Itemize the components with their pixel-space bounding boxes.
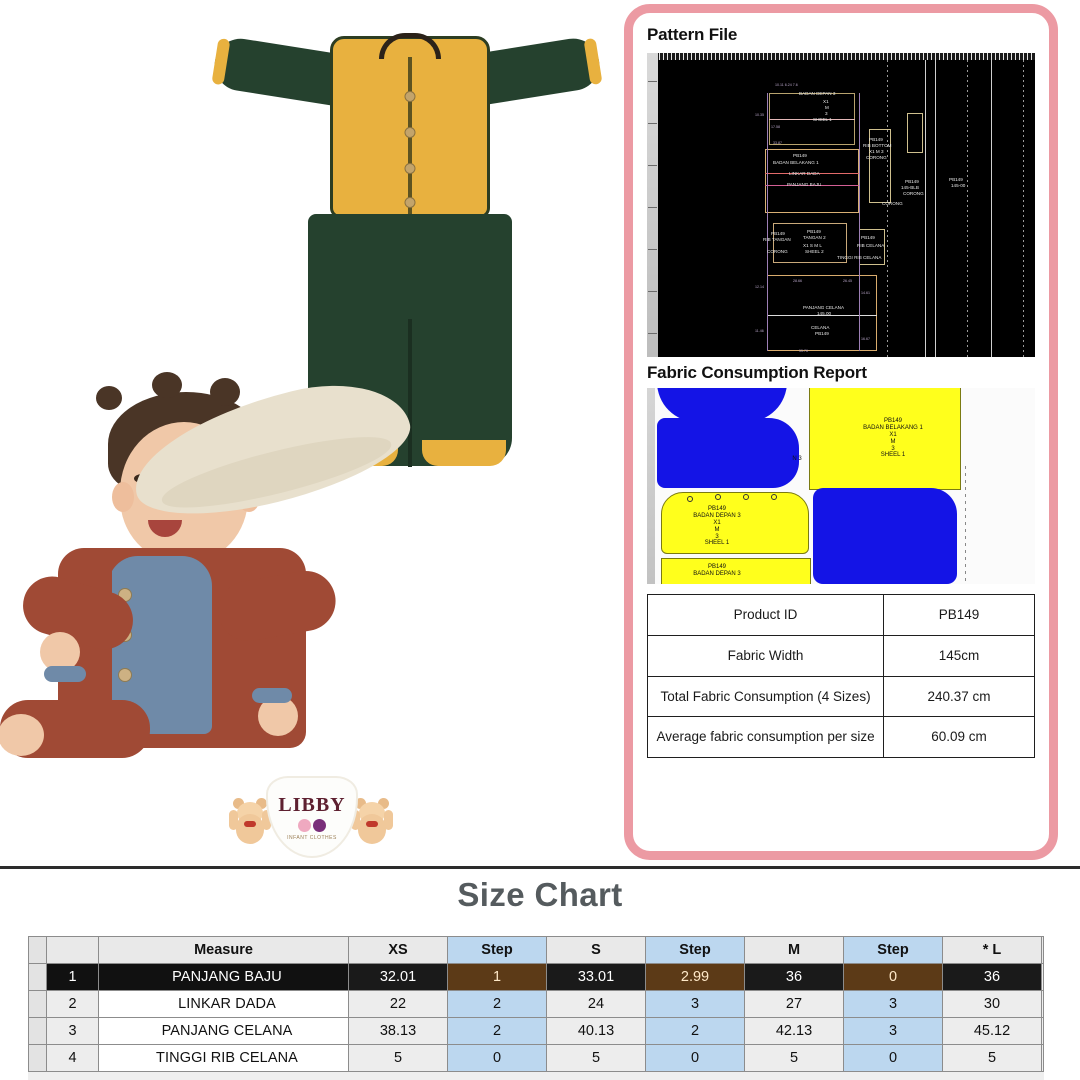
header-tail: [1042, 937, 1044, 964]
header-xs: XS: [349, 937, 448, 964]
flower-pink-icon: [298, 819, 311, 832]
row-tail: [1042, 1018, 1044, 1045]
step-2: 0: [646, 1045, 745, 1072]
bear-arm: [384, 810, 393, 830]
fabric-consumption-report-title: Fabric Consumption Report: [647, 363, 1035, 383]
row-index: 3: [47, 1018, 99, 1045]
size-chart-heading: Size Chart: [0, 876, 1080, 914]
hair-curl: [96, 386, 122, 410]
header-m: M: [745, 937, 844, 964]
header-s: S: [547, 937, 646, 964]
table-row: Fabric Width 145cm: [648, 635, 1035, 676]
step-1: 2: [448, 1018, 547, 1045]
value-s: 40.13: [547, 1018, 646, 1045]
spec-value: 145cm: [884, 635, 1035, 676]
table-row[interactable]: 2 LINKAR DADA 22 2 24 3 27 3 30: [29, 991, 1044, 1018]
fabric-marker-image: PB149BADAN BELAKANG 1X1M3SHEEL 1 N 3 PB1…: [647, 388, 1035, 584]
step-1: 2: [448, 991, 547, 1018]
header-step-3: Step: [844, 937, 943, 964]
table-row: Product ID PB149: [648, 595, 1035, 636]
measure-name: LINKAR DADA: [99, 991, 349, 1018]
bear-arm: [229, 810, 238, 830]
marker-piece-label: N 3: [767, 456, 827, 463]
pattern-file-image: BADAN DEPAN 3 X1 M 3 SHEEL 1 PB149 BADAN…: [647, 53, 1035, 357]
spec-key: Product ID: [648, 595, 884, 636]
flower-purple-icon: [313, 819, 326, 832]
table-row[interactable]: 1 PANJANG BAJU 32.01 1 33.01 2.99 36 0 3…: [29, 964, 1044, 991]
spec-value: 240.37 cm: [884, 676, 1035, 717]
outfit-torso: [330, 36, 490, 218]
marker-piece-blue: [813, 488, 957, 584]
baby-foot: [0, 714, 44, 756]
section-divider: [0, 866, 1080, 869]
step-3: 3: [844, 991, 943, 1018]
value-l: 5: [943, 1045, 1042, 1072]
step-1: 1: [448, 964, 547, 991]
outfit-neckline: [379, 33, 441, 59]
row-index: 1: [47, 964, 99, 991]
cad-left-ruler: [647, 53, 658, 357]
marker-piece-label: PB149BADAN DEPAN 3: [657, 564, 777, 578]
tech-pack-card: Pattern File: [624, 4, 1058, 860]
header-blank: [29, 937, 47, 964]
baby-sleeve-cuff: [252, 688, 292, 703]
marker-piece-label: PB149BADAN DEPAN 3X1M3SHEEL 1: [657, 506, 777, 547]
header-l: * L: [943, 937, 1042, 964]
table-row[interactable]: 4 TINGGI RIB CELANA 5 0 5 0 5 0 5: [29, 1045, 1044, 1072]
outfit-button: [405, 197, 416, 208]
row-tail: [1042, 991, 1044, 1018]
pattern-file-title: Pattern File: [647, 25, 1035, 45]
measure-name: TINGGI RIB CELANA: [99, 1045, 349, 1072]
step-2: 3: [646, 991, 745, 1018]
right-cuff: [583, 38, 602, 85]
outfit-button: [405, 127, 416, 138]
spec-value: 60.09 cm: [884, 717, 1035, 758]
cad-top-ruler: [647, 53, 1035, 60]
row-gutter: [29, 991, 47, 1018]
outfit-button: [405, 91, 416, 102]
row-tail: [1042, 1045, 1044, 1072]
table-row[interactable]: 3 PANJANG CELANA 38.13 2 40.13 2 42.13 3…: [29, 1018, 1044, 1045]
step-1: 0: [448, 1045, 547, 1072]
step-2: 2: [646, 1018, 745, 1045]
measure-name: PANJANG BAJU: [99, 964, 349, 991]
value-m: 27: [745, 991, 844, 1018]
table-row: Total Fabric Consumption (4 Sizes) 240.3…: [648, 676, 1035, 717]
table-row: Average fabric consumption per size 60.0…: [648, 717, 1035, 758]
hair-curl: [152, 372, 182, 398]
marker-piece-label: PB149BADAN BELAKANG 1X1M3SHEEL 1: [833, 418, 953, 459]
size-chart-header-row: Measure XS Step S Step M Step * L: [29, 937, 1044, 964]
header-step-1: Step: [448, 937, 547, 964]
step-3: 0: [844, 1045, 943, 1072]
value-l: 36: [943, 964, 1042, 991]
value-xs: 22: [349, 991, 448, 1018]
tech-pack-page: LIBBY INFANT CLOTHES Pattern File: [0, 0, 1080, 1080]
bear-bowtie: [366, 821, 378, 827]
row-gutter: [29, 964, 47, 991]
row-gutter: [29, 1045, 47, 1072]
value-l: 45.12: [943, 1018, 1042, 1045]
logo-wordmark: LIBBY: [278, 794, 345, 817]
value-l: 30: [943, 991, 1042, 1018]
value-xs: 5: [349, 1045, 448, 1072]
outfit-button: [405, 163, 416, 174]
baby-sleeve-cuff: [44, 666, 86, 682]
pants-right-cuff: [422, 440, 506, 466]
size-chart-table: Measure XS Step S Step M Step * L 1 PANJ…: [28, 936, 1044, 1072]
bear-body: [358, 814, 386, 844]
marker-piece-blue: [657, 388, 787, 422]
header-measure: Measure: [99, 937, 349, 964]
value-s: 33.01: [547, 964, 646, 991]
baby-outfit-button: [118, 668, 132, 682]
step-2: 2.99: [646, 964, 745, 991]
value-s: 24: [547, 991, 646, 1018]
logo-tagline: INFANT CLOTHES: [287, 835, 337, 841]
value-m: 36: [745, 964, 844, 991]
spec-key: Average fabric consumption per size: [648, 717, 884, 758]
value-xs: 32.01: [349, 964, 448, 991]
header-row-index: [47, 937, 99, 964]
spec-key: Total Fabric Consumption (4 Sizes): [648, 676, 884, 717]
bear-bowtie: [244, 821, 256, 827]
step-3: 0: [844, 964, 943, 991]
step-3: 3: [844, 1018, 943, 1045]
value-xs: 38.13: [349, 1018, 448, 1045]
measure-name: PANJANG CELANA: [99, 1018, 349, 1045]
value-s: 5: [547, 1045, 646, 1072]
marker-ruler: [647, 388, 655, 584]
bear-body: [236, 814, 264, 844]
left-cuff: [211, 38, 230, 85]
row-index: 2: [47, 991, 99, 1018]
size-chart-table-wrapper: Measure XS Step S Step M Step * L 1 PANJ…: [28, 936, 1044, 1080]
value-m: 5: [745, 1045, 844, 1072]
baby-ear: [112, 482, 134, 512]
row-index: 4: [47, 1045, 99, 1072]
marker-piece-blue: [657, 418, 799, 488]
hair-curl: [210, 378, 240, 406]
row-tail: [1042, 964, 1044, 991]
header-step-2: Step: [646, 937, 745, 964]
logo-flowers: [298, 819, 326, 832]
spec-value: PB149: [884, 595, 1035, 636]
spec-key: Fabric Width: [648, 635, 884, 676]
value-m: 42.13: [745, 1018, 844, 1045]
fabric-spec-table: Product ID PB149 Fabric Width 145cm Tota…: [647, 594, 1035, 758]
row-gutter: [29, 1018, 47, 1045]
product-photo-area: LIBBY INFANT CLOTHES: [0, 0, 620, 866]
